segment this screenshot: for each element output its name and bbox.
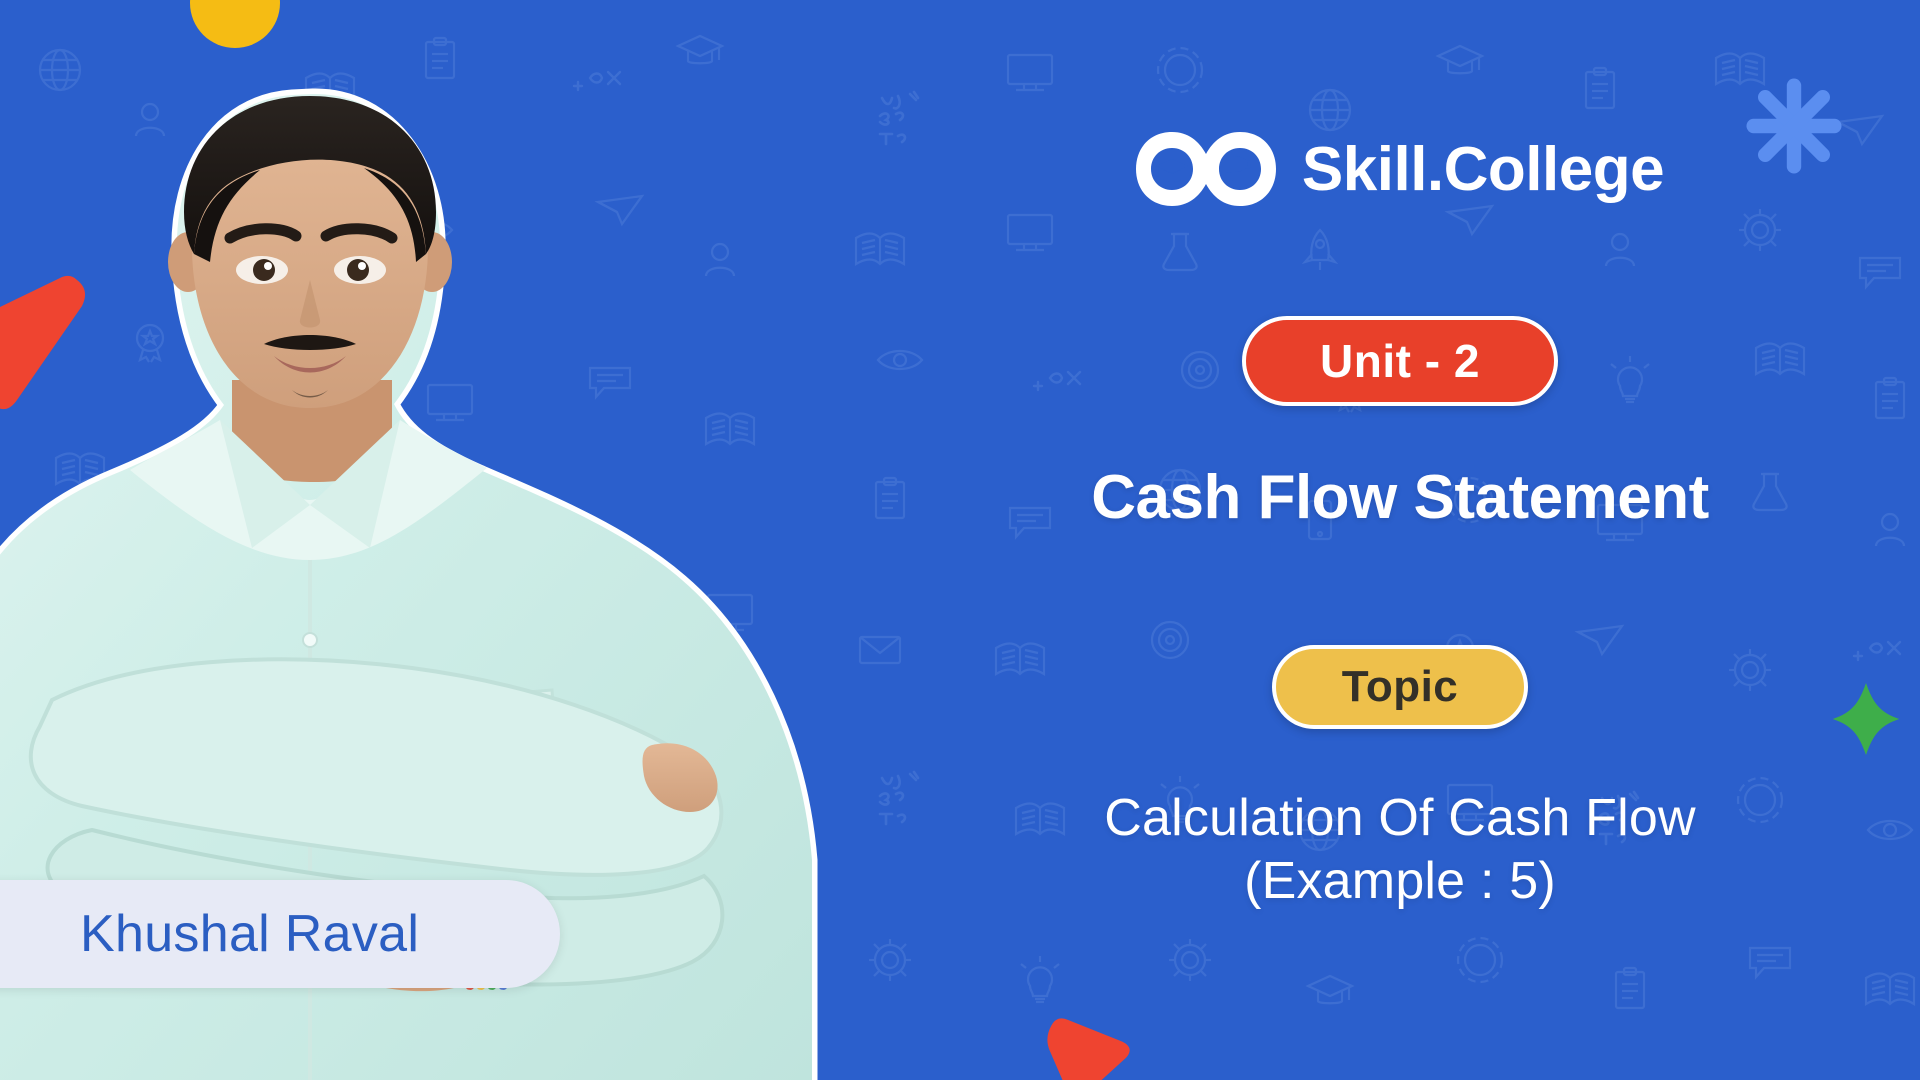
red-triangle-left-icon bbox=[0, 268, 102, 418]
slide-canvas: Khushal Raval bbox=[0, 0, 1920, 1080]
unit-badge[interactable]: Unit - 2 bbox=[1242, 316, 1558, 406]
page-title: Cash Flow Statement bbox=[1091, 462, 1709, 533]
topic-badge[interactable]: Topic bbox=[1272, 645, 1529, 729]
topic-subtitle-line-1: Calculation Of Cash Flow bbox=[1104, 787, 1695, 850]
brand-name: Skill.College bbox=[1302, 134, 1664, 205]
yellow-circle-icon bbox=[190, 0, 280, 48]
infinity-graduation-rupee-icon bbox=[1136, 126, 1276, 212]
topic-badge-label: Topic bbox=[1342, 662, 1459, 712]
unit-badge-label: Unit - 2 bbox=[1320, 334, 1480, 388]
presenter-nameplate: Khushal Raval bbox=[0, 880, 560, 988]
presenter-name: Khushal Raval bbox=[80, 904, 419, 964]
topic-subtitle-line-2: (Example : 5) bbox=[1104, 850, 1695, 913]
topic-subtitle: Calculation Of Cash Flow (Example : 5) bbox=[1104, 787, 1695, 914]
slide-content: Skill.College Unit - 2 Cash Flow Stateme… bbox=[880, 0, 1920, 1080]
brand-logo[interactable]: Skill.College bbox=[1136, 126, 1664, 212]
